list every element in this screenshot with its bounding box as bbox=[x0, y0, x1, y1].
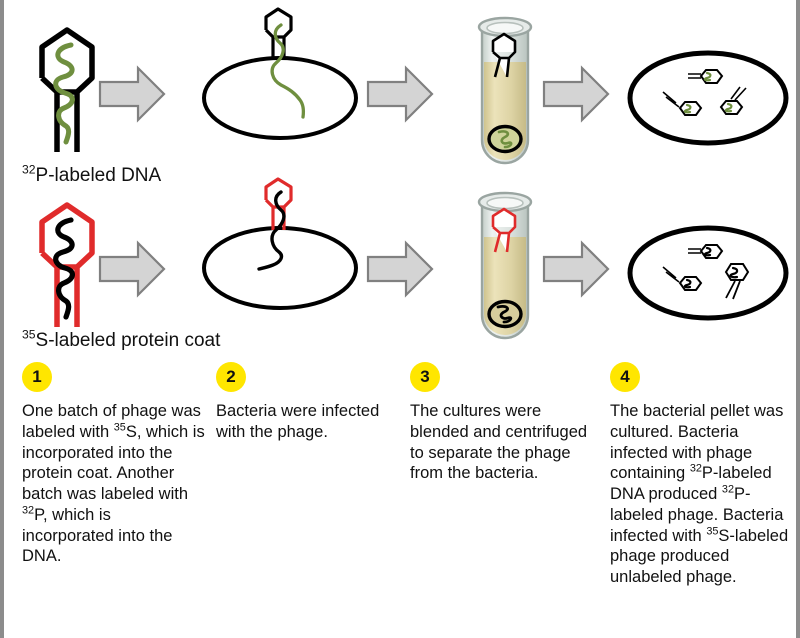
bacterium-infected-s35 bbox=[204, 179, 356, 308]
phage-s35-labeled bbox=[42, 205, 92, 327]
progeny-culture-s35 bbox=[630, 228, 786, 318]
progeny-culture-p32 bbox=[630, 53, 786, 143]
step-badge-1: 1 bbox=[22, 362, 52, 392]
step-4: 4 The bacterial pellet was cultured. Bac… bbox=[610, 362, 796, 588]
arrow-row1-step2-to-3 bbox=[368, 68, 432, 120]
arrow-row1-step1-to-2 bbox=[100, 68, 164, 120]
step-text-4: The bacterial pellet was cultured. Bacte… bbox=[610, 401, 796, 588]
step-text-3: The cultures were blended and centrifuge… bbox=[410, 401, 600, 484]
step-text-2: Bacteria were infected with the phage. bbox=[216, 401, 386, 443]
centrifuge-tube-p32 bbox=[479, 18, 531, 163]
figure-canvas: 32P-labeled DNA 35S-labeled protein coat… bbox=[0, 0, 800, 638]
step-badge-3: 3 bbox=[410, 362, 440, 392]
arrow-row2-step1-to-2 bbox=[100, 243, 164, 295]
arrow-row1-step3-to-4 bbox=[544, 68, 608, 120]
step-badge-4: 4 bbox=[610, 362, 640, 392]
arrow-row2-step3-to-4 bbox=[544, 243, 608, 295]
step-text-1: One batch of phage was labeled with 35S,… bbox=[22, 401, 207, 567]
bacterium-infected-p32 bbox=[204, 9, 356, 138]
step-3: 3 The cultures were blended and centrifu… bbox=[410, 362, 600, 484]
step-badge-2: 2 bbox=[216, 362, 246, 392]
step-2: 2 Bacteria were infected with the phage. bbox=[216, 362, 386, 443]
row-label-p32: 32P-labeled DNA bbox=[22, 166, 161, 185]
step-1: 1 One batch of phage was labeled with 35… bbox=[22, 362, 207, 567]
centrifuge-tube-s35 bbox=[479, 193, 531, 338]
arrow-row2-step2-to-3 bbox=[368, 243, 432, 295]
row-label-s35: 35S-labeled protein coat bbox=[22, 331, 220, 350]
phage-p32-labeled bbox=[42, 30, 92, 152]
bacterial-pellet-s35 bbox=[489, 302, 521, 327]
bacterial-pellet-p32 bbox=[489, 127, 521, 152]
